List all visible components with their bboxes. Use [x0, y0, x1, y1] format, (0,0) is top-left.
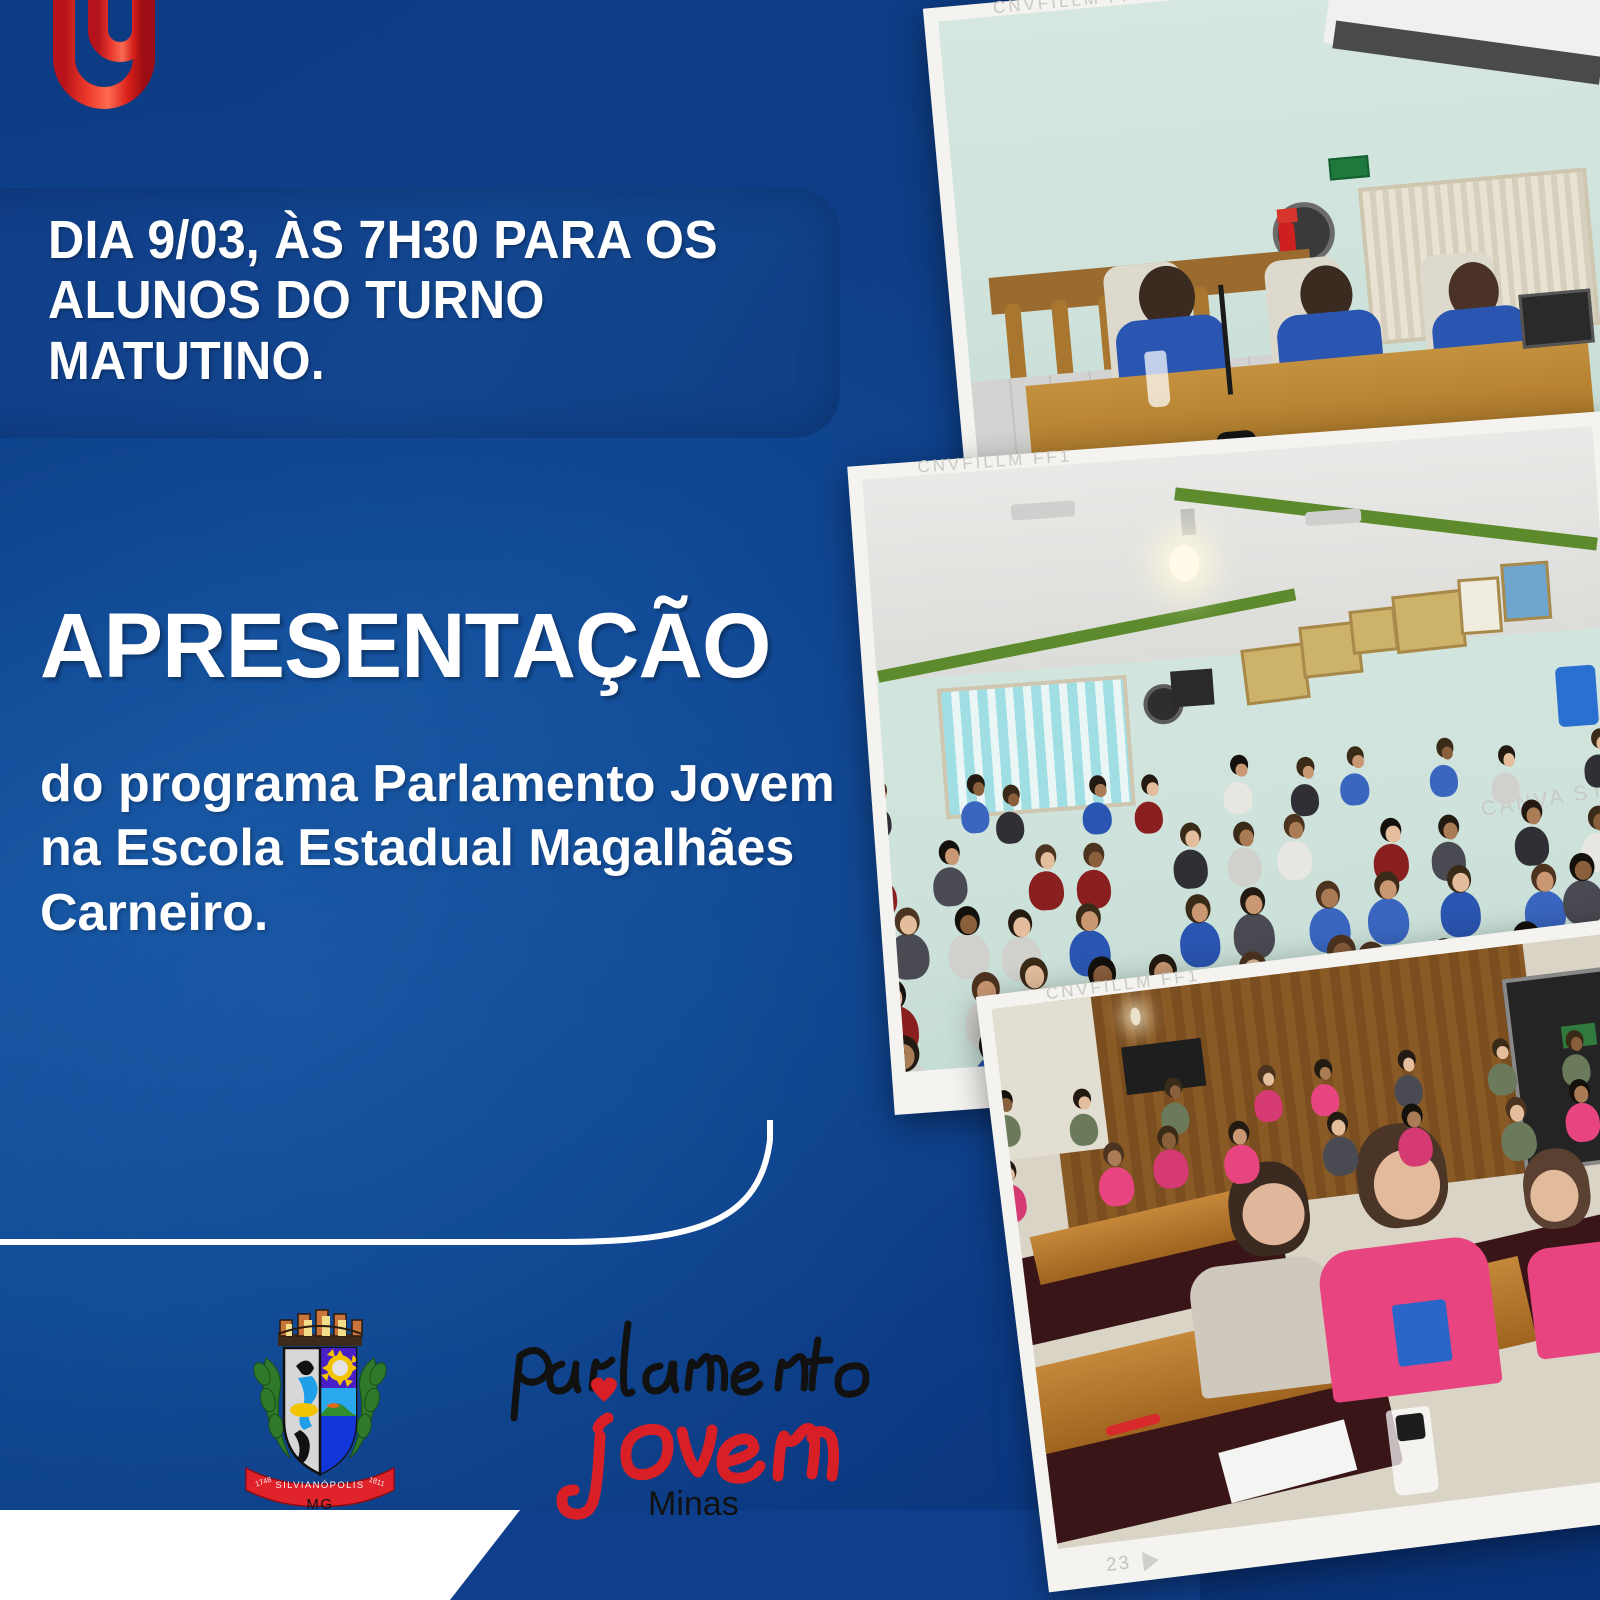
photo-1-image [938, 0, 1600, 484]
photo-3-marker-icon [1142, 1550, 1160, 1572]
photo-3-foot-number: 23 [1105, 1552, 1133, 1577]
photo-3-footer: 23 [1105, 1549, 1160, 1577]
poster-canvas: DIA 9/03, ÀS 7H30 PARA OS ALUNOS DO TURN… [0, 0, 1600, 1600]
photo-3-image [991, 933, 1600, 1549]
parlamento-jovem-logo: Minas [500, 1290, 920, 1540]
logo-minas-text: Minas [648, 1485, 739, 1523]
coat-state-text: MG [306, 1496, 333, 1513]
headline-text: DIA 9/03, ÀS 7H30 PARA OS ALUNOS DO TURN… [48, 210, 792, 391]
page-subtitle: do programa Parlamento Jovem na Escola E… [40, 752, 870, 945]
coat-name-text: SILVIANÓPOLIS [275, 1480, 364, 1491]
page-title: APRESENTAÇÃO [40, 600, 874, 692]
paperclip-icon [22, 0, 192, 168]
coat-of-arms-silvianopolis-icon: SILVIANÓPOLIS 1748 1811 MG [240, 1300, 400, 1515]
heart-icon [591, 1378, 617, 1403]
photo-card-3[interactable]: CNVFILLM FF1 23 [976, 918, 1600, 1593]
